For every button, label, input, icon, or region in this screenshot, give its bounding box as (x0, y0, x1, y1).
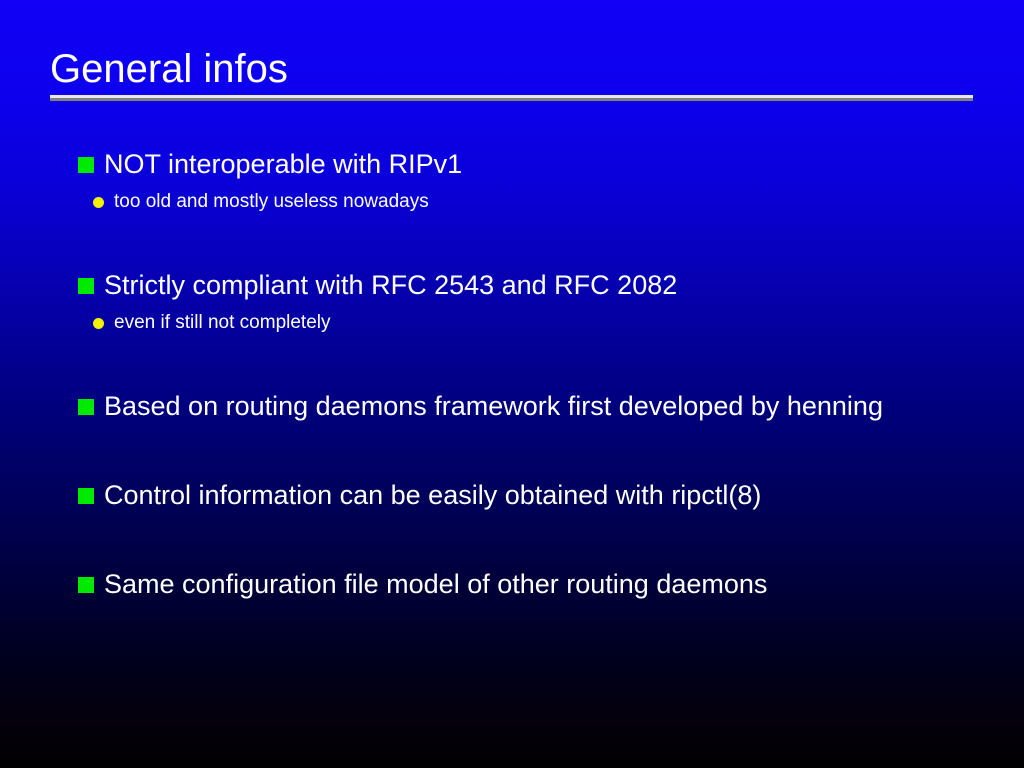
bullet-text: even if still not completely (114, 312, 331, 333)
bullet-item-level1: Based on routing daemons framework first… (0, 382, 1024, 431)
bullet-text: NOT interoperable with RIPv1 (104, 149, 462, 179)
green-square-bullet-icon (78, 577, 94, 593)
bullet-text: too old and mostly useless nowadays (114, 191, 429, 212)
bullet-group: NOT interoperable with RIPv1 too old and… (0, 140, 1024, 215)
bullet-item-level2: even if still not completely (0, 310, 1024, 336)
green-square-bullet-icon (78, 278, 94, 294)
bullet-text: Based on routing daemons framework first… (104, 391, 883, 421)
bullet-group: Based on routing daemons framework first… (0, 382, 1024, 431)
slide-title-block: General infos (50, 46, 974, 101)
page-title: General infos (50, 46, 974, 92)
yellow-circle-bullet-icon (93, 197, 104, 208)
spacer (0, 336, 1024, 382)
spacer (0, 431, 1024, 471)
title-divider (50, 95, 973, 101)
bullet-text: Control information can be easily obtain… (104, 480, 761, 510)
yellow-circle-bullet-icon (93, 318, 104, 329)
bullet-group: Control information can be easily obtain… (0, 471, 1024, 520)
green-square-bullet-icon (78, 488, 94, 504)
spacer (0, 215, 1024, 261)
bullet-item-level1: Same configuration file model of other r… (0, 560, 1024, 609)
bullet-item-level2: too old and mostly useless nowadays (0, 189, 1024, 215)
spacer (0, 520, 1024, 560)
bullet-text: Same configuration file model of other r… (104, 569, 767, 599)
bullet-item-level1: NOT interoperable with RIPv1 (0, 140, 1024, 189)
bullet-group: Same configuration file model of other r… (0, 560, 1024, 609)
bullet-group: Strictly compliant with RFC 2543 and RFC… (0, 261, 1024, 336)
bullet-item-level1: Control information can be easily obtain… (0, 471, 1024, 520)
slide-body: NOT interoperable with RIPv1 too old and… (0, 140, 1024, 609)
bullet-text: Strictly compliant with RFC 2543 and RFC… (104, 270, 677, 300)
green-square-bullet-icon (78, 157, 94, 173)
presentation-slide: General infos NOT interoperable with RIP… (0, 0, 1024, 768)
bullet-item-level1: Strictly compliant with RFC 2543 and RFC… (0, 261, 1024, 310)
green-square-bullet-icon (78, 399, 94, 415)
